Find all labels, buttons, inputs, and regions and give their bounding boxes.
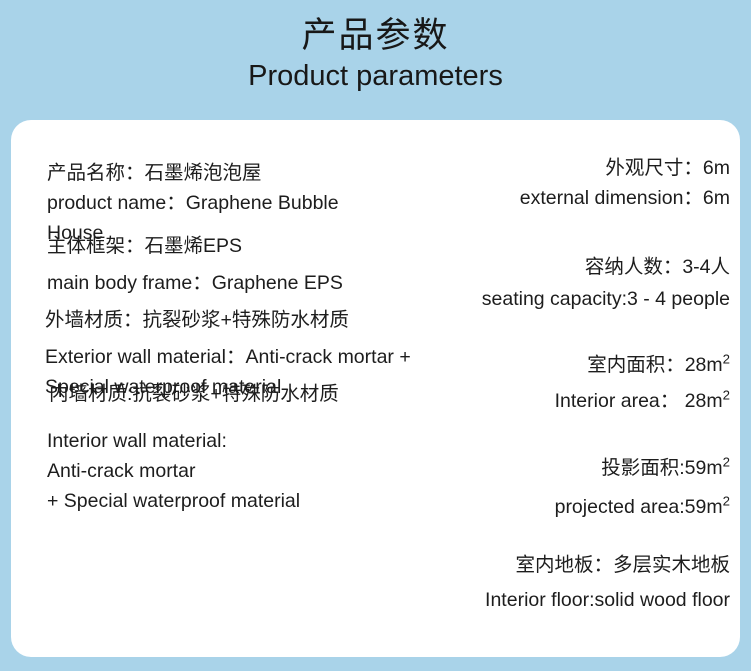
spec-item-external-dimension: 外观尺寸：6m external dimension：6m xyxy=(520,153,730,213)
spec-label-cn: 产品名称：石墨烯泡泡屋 xyxy=(47,158,377,188)
spec-item-interior-wall-material: 内墙材质:抗裂砂浆+特殊防水材质 Interior wall material:… xyxy=(47,379,339,516)
spec-value-cn: 室内面积：28m xyxy=(587,354,722,376)
superscript-two: 2 xyxy=(723,455,730,470)
spec-label-cn: 容纳人数：3-4人 xyxy=(482,252,730,282)
spec-label-en: seating capacity:3 - 4 people xyxy=(482,284,730,314)
spec-label-cn: 室内面积：28m2 xyxy=(555,350,730,380)
spec-item-projected-area: 投影面积:59m2 projected area:59m2 xyxy=(555,453,730,522)
spec-label-en: projected area:59m2 xyxy=(555,492,730,522)
parameters-columns: 产品名称：石墨烯泡泡屋 product name：Graphene Bubble… xyxy=(11,120,740,657)
spec-label-cn: 室内地板：多层实木地板 xyxy=(485,550,730,580)
superscript-two: 2 xyxy=(723,494,730,509)
spec-value-cn: 投影面积:59m xyxy=(601,457,722,479)
parameters-card: 产品名称：石墨烯泡泡屋 product name：Graphene Bubble… xyxy=(11,120,740,657)
page-title-cn: 产品参数 xyxy=(0,14,751,58)
spec-label-cn: 投影面积:59m2 xyxy=(555,453,730,483)
spec-label-cn: 内墙材质:抗裂砂浆+特殊防水材质 xyxy=(47,379,339,409)
page-header: 产品参数 Product parameters xyxy=(0,0,751,120)
page-title-en: Product parameters xyxy=(0,58,751,94)
left-spec-column: 产品名称：石墨烯泡泡屋 product name：Graphene Bubble… xyxy=(11,120,441,657)
spec-value-en: projected area:59m xyxy=(555,496,723,518)
right-spec-column: 外观尺寸：6m external dimension：6m 容纳人数：3-4人 … xyxy=(420,120,740,657)
spec-label-en: Interior wall material: Anti-crack morta… xyxy=(47,426,339,516)
spec-item-seating-capacity: 容纳人数：3-4人 seating capacity:3 - 4 people xyxy=(482,252,730,314)
spec-item-main-body-frame: 主体框架：石墨烯EPS main body frame：Graphene EPS xyxy=(47,231,343,298)
spec-label-cn: 外墙材质：抗裂砂浆+特殊防水材质 xyxy=(45,305,441,335)
superscript-two: 2 xyxy=(723,352,730,367)
spec-item-interior-floor: 室内地板：多层实木地板 Interior floor:solid wood fl… xyxy=(485,550,730,615)
spec-value-en: Interior area： 28m xyxy=(555,390,723,412)
spec-label-cn: 外观尺寸：6m xyxy=(520,153,730,183)
spec-label-en: Interior area： 28m2 xyxy=(555,386,730,416)
spec-label-en: Interior floor:solid wood floor xyxy=(485,585,730,615)
spec-label-cn: 主体框架：石墨烯EPS xyxy=(47,231,343,261)
spec-item-interior-area: 室内面积：28m2 Interior area： 28m2 xyxy=(555,350,730,416)
spec-label-en: external dimension：6m xyxy=(520,183,730,213)
spec-label-en: main body frame：Graphene EPS xyxy=(47,268,343,298)
superscript-two: 2 xyxy=(723,388,730,403)
